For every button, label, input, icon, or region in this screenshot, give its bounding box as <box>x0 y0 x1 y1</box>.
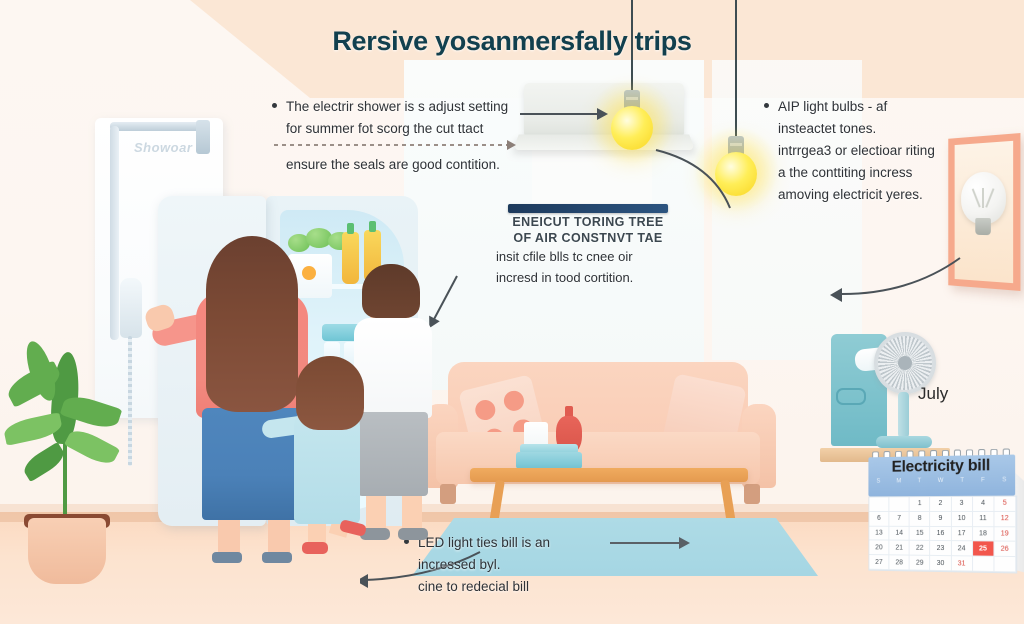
banner-heading-line: ENEICUT TORING TREE <box>492 214 684 230</box>
annotation-ac-tip: insit cfile blls tc cnee oir incresd in … <box>496 246 676 288</box>
pillow-dot <box>473 398 497 422</box>
pillow-dot <box>502 389 526 413</box>
calendar-day-cell[interactable]: 15 <box>910 526 931 541</box>
annotation-line: incresd in tood cortition. <box>496 267 676 288</box>
annotation-line: incressed byl. <box>418 554 648 576</box>
calendar-day-cell[interactable]: 13 <box>869 526 889 541</box>
calendar-header: Electricity bill SMTWTFS <box>868 455 1015 497</box>
dashed-arrow-right <box>274 144 514 146</box>
annotation-line: ensure the seals are good contition. <box>286 154 526 176</box>
calendar-day-cell[interactable]: 22 <box>910 541 931 556</box>
calendar-day-cell[interactable]: 20 <box>869 541 889 556</box>
annotation-line: insit cfile blls tc cnee oir <box>496 246 676 267</box>
calendar-day-cell[interactable]: 12 <box>994 512 1016 527</box>
calendar-day-cell[interactable]: 28 <box>889 555 909 570</box>
annotation-shower-tip: The electrir shower is s adjust setting … <box>286 96 526 176</box>
annotation-line: intrrgea3 or electioar riting <box>778 140 993 162</box>
calendar-grid: 1234567891011121314151617181920212223242… <box>868 496 1017 574</box>
appliance-knob <box>836 388 866 405</box>
sofa-leg <box>744 484 760 504</box>
calendar-day-cell[interactable]: 2 <box>931 497 952 512</box>
fan-neck <box>898 392 909 438</box>
calendar-day-cell[interactable]: 8 <box>910 512 931 527</box>
boy-leg <box>366 492 386 530</box>
boy-shorts <box>358 412 428 496</box>
calendar-dow: M <box>896 478 901 484</box>
calendar-day-cell[interactable]: 4 <box>973 497 995 512</box>
calendar-day-cell[interactable]: 6 <box>869 512 889 527</box>
plant-pot <box>28 518 106 584</box>
shower-arm <box>110 122 206 131</box>
boy-shirt <box>354 318 432 418</box>
calendar-day-cell[interactable]: 7 <box>889 512 909 527</box>
pendant-cord <box>735 0 737 138</box>
calendar-day-cell[interactable]: 5 <box>994 497 1016 512</box>
calendar-day-cell[interactable]: 30 <box>931 556 952 571</box>
calendar-day-cell[interactable]: 14 <box>889 526 909 541</box>
sofa-leg <box>440 484 456 504</box>
light-bulb-icon <box>611 106 653 150</box>
child-hair <box>296 356 364 430</box>
bullet-icon <box>272 103 277 108</box>
calendar-day-cell[interactable]: 21 <box>889 541 909 556</box>
calendar-dow: T <box>918 478 922 484</box>
fan-base <box>876 436 932 448</box>
calendar-day-cell[interactable]: 9 <box>931 512 952 527</box>
annotation-bulb-tip: AIP light bulbs - af insteactet tones. i… <box>778 96 993 206</box>
calendar-dow: S <box>876 479 880 485</box>
annotation-line: cine to redecial bill <box>418 576 648 598</box>
calendar-dow: W <box>938 478 944 484</box>
page-title: Rersive yosanmersfally trips <box>0 26 1024 57</box>
calendar-day-cell[interactable] <box>889 497 909 512</box>
calendar-day-cell[interactable]: 24 <box>951 542 972 557</box>
mother-hair <box>206 236 298 412</box>
calendar-day-cell[interactable] <box>869 497 889 512</box>
mother-sandal <box>212 552 242 563</box>
banner-bar <box>508 204 668 213</box>
annotation-line: AIP light bulbs - af <box>778 96 993 118</box>
mother-sandal <box>262 552 292 563</box>
calendar-day-cell[interactable]: 10 <box>951 512 972 527</box>
calendar-day-cell[interactable]: 26 <box>994 542 1016 557</box>
desk-calendar: Electricity bill SMTWTFS 123456789101112… <box>865 448 1018 579</box>
calendar-dow: T <box>960 478 964 484</box>
boy-leg <box>402 492 422 530</box>
fridge-bottle <box>342 232 359 284</box>
calendar-day-cell[interactable]: 18 <box>973 527 995 542</box>
fridge-egg <box>302 266 316 280</box>
boy-hair <box>362 264 420 318</box>
fan-hub <box>898 356 912 370</box>
calendar-dow: S <box>1002 477 1006 483</box>
calendar-day-headers: SMTWTFS <box>868 477 1015 485</box>
table-books <box>516 452 582 469</box>
shower-hose <box>128 336 132 466</box>
annotation-line: amoving electricit yeres. <box>778 184 993 206</box>
shower-brand-label: Showoar <box>134 140 192 155</box>
banner-heading: ENEICUT TORING TREE OF AIR CONSTNVT TAE <box>492 214 684 246</box>
shower-handset <box>120 278 142 338</box>
arrow-rug-right <box>610 542 688 544</box>
child-shoe <box>302 542 328 554</box>
calendar-day-cell[interactable]: 16 <box>931 527 952 542</box>
shower-head-icon <box>196 120 210 154</box>
arrow-to-ac <box>520 113 606 115</box>
calendar-day-cell[interactable]: 25 <box>973 542 995 557</box>
bullet-icon <box>764 103 769 108</box>
calendar-day-cell[interactable] <box>994 557 1016 573</box>
annotation-line: insteactet tones. <box>778 118 993 140</box>
shower-riser-pipe <box>110 126 119 340</box>
annotation-line: for summer fot scorg the cut ttact <box>286 118 526 140</box>
calendar-day-cell[interactable] <box>973 557 995 572</box>
calendar-day-cell[interactable]: 17 <box>951 527 972 542</box>
calendar-title: Electricity bill <box>868 457 1015 477</box>
calendar-day-cell[interactable]: 19 <box>994 527 1016 542</box>
light-bulb-icon <box>715 152 757 196</box>
calendar-day-cell[interactable]: 1 <box>910 497 931 512</box>
illustration-canvas: Showoar <box>0 0 1024 624</box>
table-top <box>470 468 748 482</box>
calendar-day-cell[interactable]: 3 <box>951 497 972 512</box>
july-label: July <box>918 384 948 404</box>
calendar-dow: F <box>981 477 985 483</box>
calendar-day-cell[interactable]: 29 <box>910 556 931 571</box>
annotation-line: The electrir shower is s adjust setting <box>286 96 526 118</box>
banner-heading-line: OF AIR CONSTNVT TAE <box>492 230 684 246</box>
annotation-line: a the conttiting incress <box>778 162 993 184</box>
calendar-day-cell[interactable]: 23 <box>931 541 952 556</box>
calendar-day-cell[interactable]: 11 <box>973 512 995 527</box>
boy-shoe <box>398 528 428 540</box>
calendar-day-cell[interactable]: 27 <box>869 555 889 570</box>
calendar-day-cell[interactable]: 31 <box>951 556 972 571</box>
